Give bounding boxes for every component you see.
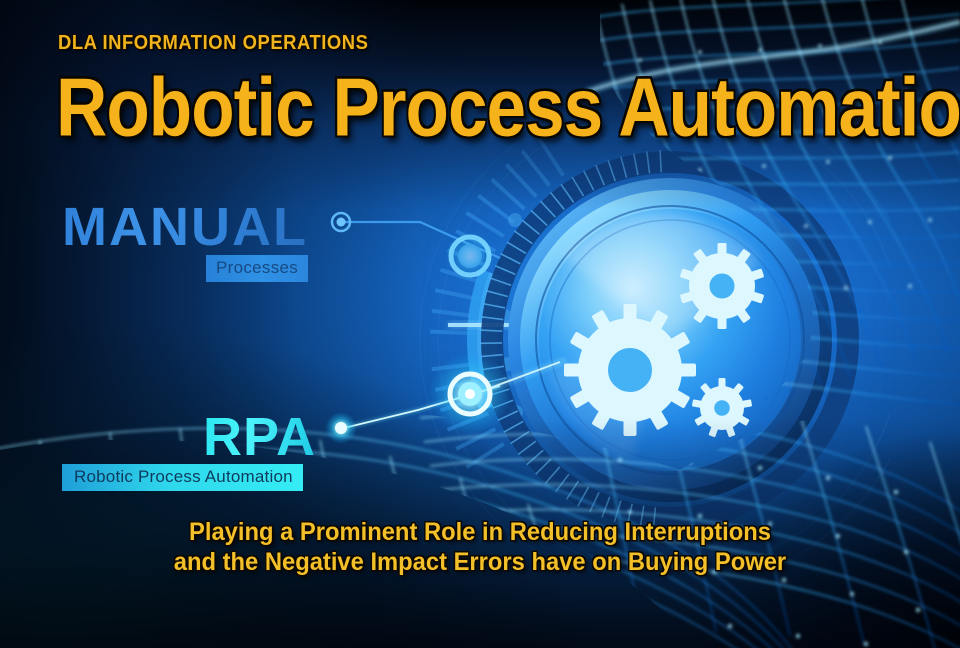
poster-canvas: DLA INFORMATION OPERATIONS Robotic Proce…	[0, 0, 960, 648]
manual-subtitle-badge: Processes	[206, 255, 308, 282]
right-vignette	[540, 348, 960, 648]
page-title: Robotic Process Automation	[56, 66, 960, 149]
manual-heading: MANUAL	[62, 196, 308, 258]
eyebrow-label: DLA INFORMATION OPERATIONS	[58, 32, 368, 55]
subtitle-block: Playing a Prominent Role in Reducing Int…	[24, 518, 936, 577]
subtitle-line-1: Playing a Prominent Role in Reducing Int…	[189, 518, 771, 546]
rpa-subtitle-badge: Robotic Process Automation	[62, 464, 303, 491]
rpa-heading: RPA	[203, 406, 316, 468]
subtitle-line-2: and the Negative Impact Errors have on B…	[24, 548, 936, 578]
